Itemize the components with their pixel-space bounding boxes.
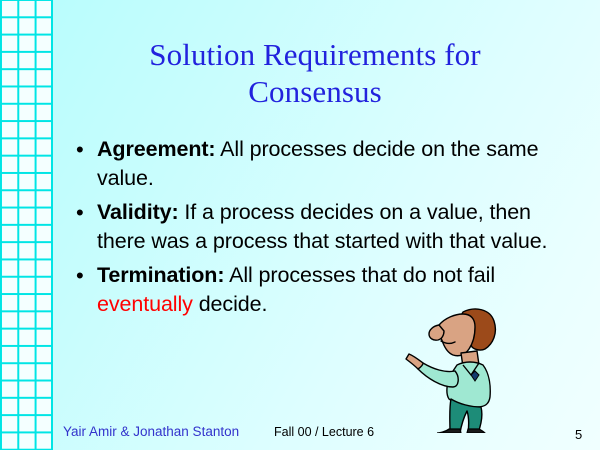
bullet-body-text-before: All processes that do not fail [224,263,495,287]
bullet-highlight-eventually: eventually [97,292,193,316]
slide-canvas: Solution Requirements for Consensus • Ag… [0,0,600,450]
cartoon-man-pointing-icon [405,303,525,433]
title-line-2: Consensus [248,74,382,109]
footer-course-label: Fall 00 / Lecture 6 [274,425,374,439]
list-item: • Validity: If a process decides on a va… [70,198,570,256]
bullet-lead-label: Validity: [97,200,179,224]
title-line-1: Solution Requirements for [149,37,480,72]
bullet-marker-icon: • [70,198,97,227]
page-title: Solution Requirements for Consensus [80,36,550,110]
bullet-marker-icon: • [70,135,97,164]
bullet-list: • Agreement: All processes decide on the… [70,135,570,324]
page-number: 5 [575,427,582,442]
bullet-marker-icon: • [70,261,97,290]
bullet-text-agreement: Agreement: All processes decide on the s… [97,135,570,193]
footer-authors: Yair Amir & Jonathan Stanton [63,424,239,439]
bullet-lead-label: Agreement: [97,137,215,161]
decorative-grid-strip [0,0,53,450]
bullet-lead-label: Termination: [97,263,224,287]
bullet-text-validity: Validity: If a process decides on a valu… [97,198,570,256]
list-item: • Agreement: All processes decide on the… [70,135,570,193]
bullet-body-text-after: decide. [193,292,268,316]
